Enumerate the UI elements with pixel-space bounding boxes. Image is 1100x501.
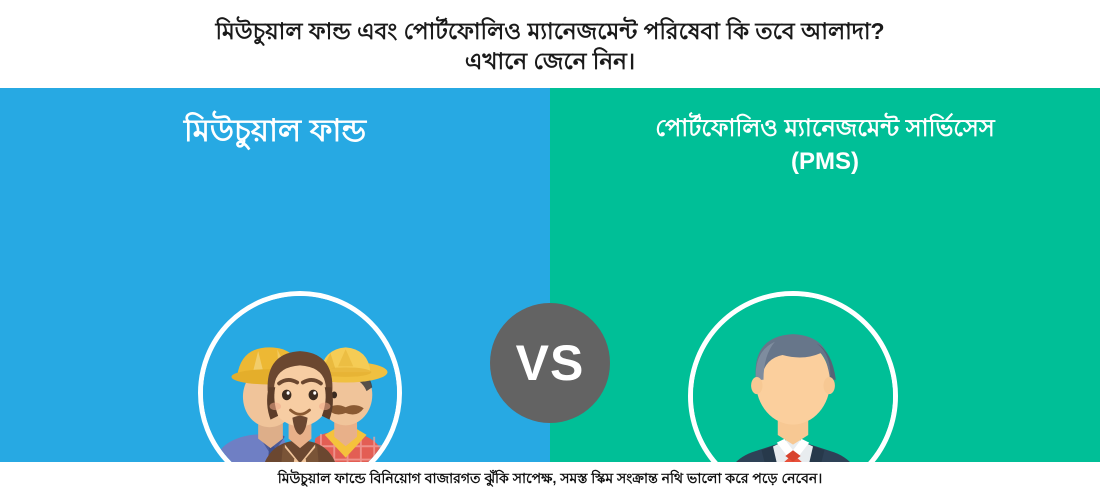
group-of-investors-illustration <box>203 296 397 490</box>
page-footer: মিউচুয়াল ফান্ডে বিনিয়োগ বাজারগত ঝুঁকি … <box>0 462 1100 496</box>
panel-pms: পোর্টফোলিও ম্যানেজমেন্ট সার্ভিসেস (PMS) <box>550 88 1100 462</box>
panel-right-title: পোর্টফোলিও ম্যানেজমেন্ট সার্ভিসেস (PMS) <box>550 112 1100 178</box>
page-title-line-2: এখানে জেনে নিন। <box>465 46 635 76</box>
panel-right-title-line-1: পোর্টফোলিও ম্যানেজমেন্ট সার্ভিসেস <box>550 112 1100 145</box>
page-header: মিউচুয়াল ফান্ড এবং পোর্টফোলিও ম্যানেজমে… <box>0 0 1100 88</box>
comparison-band: মিউচুয়াল ফান্ড <box>0 88 1100 462</box>
panel-left-title: মিউচুয়াল ফান্ড <box>0 114 550 147</box>
panel-mutual-fund: মিউচুয়াল ফান্ড <box>0 88 550 462</box>
page-title-line-1: মিউচুয়াল ফান্ড এবং পোর্টফোলিও ম্যানেজমে… <box>215 16 884 46</box>
vs-badge: VS <box>490 303 610 423</box>
vs-label: VS <box>516 338 585 388</box>
footer-disclaimer: মিউচুয়াল ফান্ডে বিনিয়োগ বাজারগত ঝুঁকি … <box>278 467 823 491</box>
panel-right-title-line-2: (PMS) <box>550 145 1100 178</box>
